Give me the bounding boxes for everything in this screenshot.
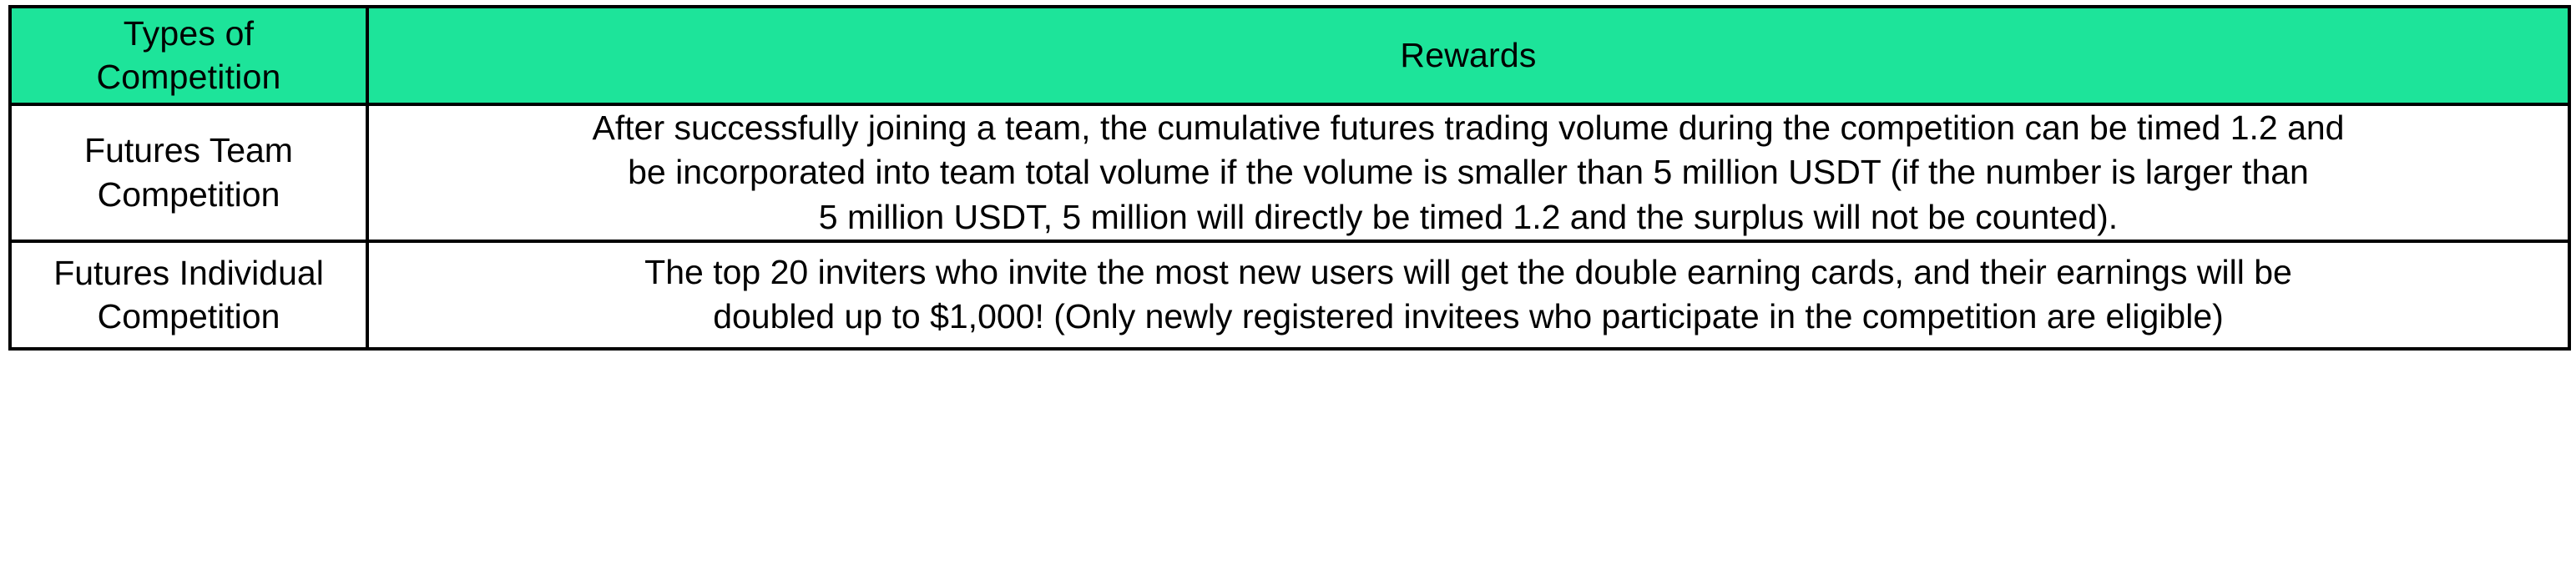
competition-type-label: Futures Team Competition [17,120,361,224]
table-body: Futures Team Competition After successfu… [10,104,2569,349]
table-header-row: Types of Competition Rewards [10,7,2569,104]
column-header-types-of-competition: Types of Competition [10,7,367,104]
competition-rewards-table: Types of Competition Rewards Futures Tea… [8,5,2571,351]
reward-description-cell: The top 20 inviters who invite the most … [367,241,2569,349]
rewards-table-container: Types of Competition Rewards Futures Tea… [0,0,2576,565]
competition-type-label: Futures Individual Competition [17,243,361,347]
table-header: Types of Competition Rewards [10,7,2569,104]
reward-description-cell: After successfully joining a team, the c… [367,104,2569,241]
table-row: Futures Individual Competition The top 2… [10,241,2569,349]
column-header-types-of-competition-label: Types of Competition [44,13,333,98]
table-row: Futures Team Competition After successfu… [10,104,2569,241]
reward-description-text: The top 20 inviters who invite the most … [391,250,2545,340]
reward-description-text: After successfully joining a team, the c… [391,106,2545,240]
competition-type-cell: Futures Individual Competition [10,241,367,349]
competition-type-cell: Futures Team Competition [10,104,367,241]
column-header-rewards-label: Rewards [369,34,2568,78]
column-header-rewards: Rewards [367,7,2569,104]
